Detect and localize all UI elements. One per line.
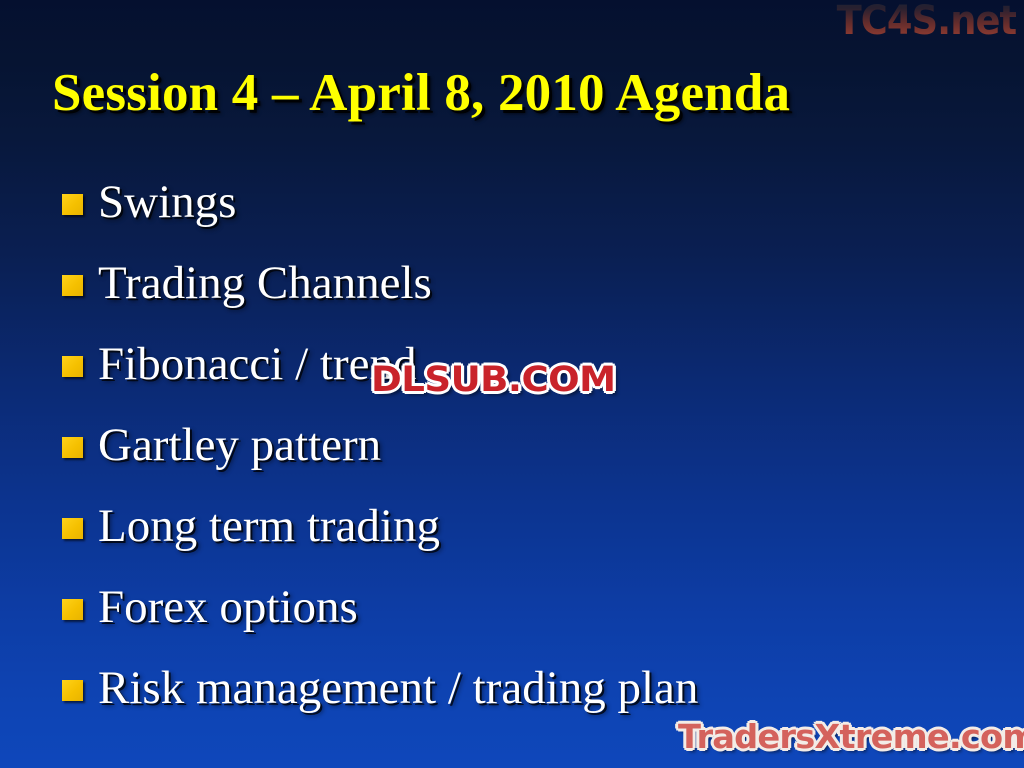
list-item: Trading Channels (62, 257, 1002, 338)
list-item: Gartley pattern (62, 419, 1002, 500)
bullet-square-icon (62, 518, 83, 539)
presentation-slide: TC4S.net Session 4 – April 8, 2010 Agend… (0, 0, 1024, 768)
list-item-label: Long term trading (98, 500, 1002, 552)
list-item-label: Gartley pattern (98, 419, 1002, 471)
list-item-label: Risk management / trading plan (98, 662, 1002, 714)
list-item: Forex options (62, 581, 1002, 662)
list-item-label: Trading Channels (98, 257, 1002, 309)
list-item: Fibonacci / trend (62, 338, 1002, 419)
bullet-square-icon (62, 599, 83, 620)
bullet-square-icon (62, 194, 83, 215)
list-item: Risk management / trading plan (62, 662, 1002, 743)
list-item-label: Forex options (98, 581, 1002, 633)
slide-title: Session 4 – April 8, 2010 Agenda (52, 62, 992, 124)
agenda-bullet-list: Swings Trading Channels Fibonacci / tren… (62, 176, 1002, 743)
bullet-square-icon (62, 437, 83, 458)
list-item-label: Fibonacci / trend (98, 338, 1002, 390)
bullet-square-icon (62, 356, 83, 377)
tc4s-watermark: TC4S.net (836, 0, 1016, 44)
list-item: Swings (62, 176, 1002, 257)
bullet-square-icon (62, 275, 83, 296)
list-item-label: Swings (98, 176, 1002, 228)
list-item: Long term trading (62, 500, 1002, 581)
bullet-square-icon (62, 680, 83, 701)
